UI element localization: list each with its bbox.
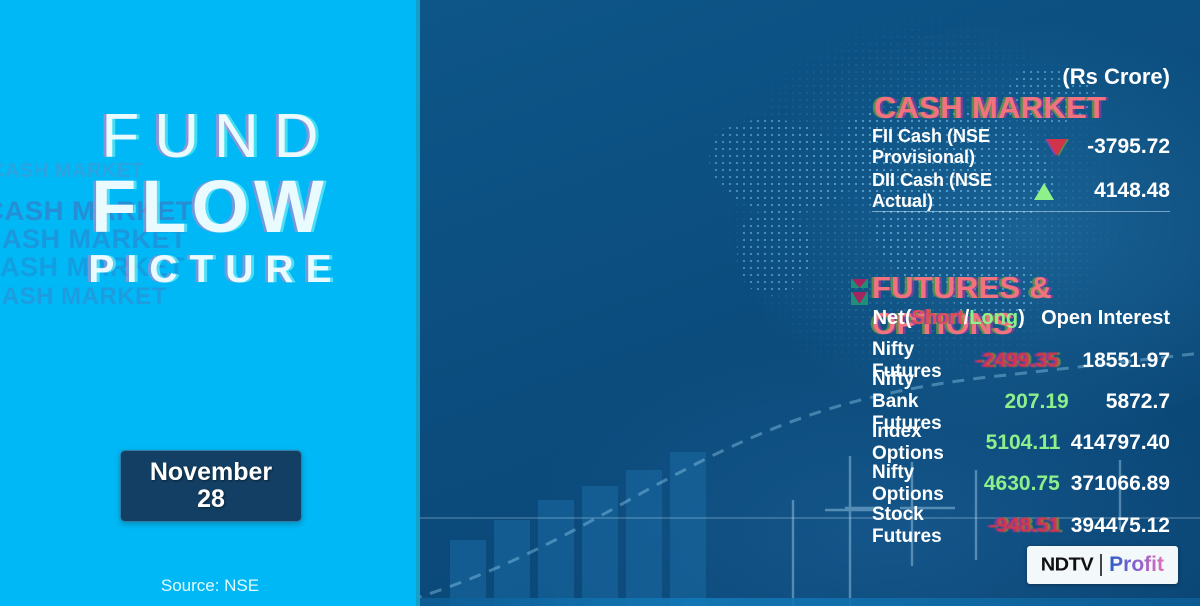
cash-row-label: FII Cash (NSE Provisional) xyxy=(872,126,1040,168)
profit-wordmark: Profit xyxy=(1109,553,1164,577)
row-net-value: 207.19 xyxy=(962,390,1069,414)
column-header-open-interest: Open Interest xyxy=(1025,307,1170,330)
title-line-fund: FUND xyxy=(0,106,420,168)
show-title-logo: FUND FLOW PICTURE xyxy=(0,106,420,289)
triangle-marker-icon xyxy=(850,277,870,309)
table-row: Stock Futures -948.51 394475.12 xyxy=(872,511,1170,541)
ndtv-wordmark: NDTV xyxy=(1041,554,1093,575)
row-open-interest-value: 5872.7 xyxy=(1069,390,1170,414)
row-open-interest-value: 414797.40 xyxy=(1060,431,1170,455)
row-label: Nifty Options xyxy=(872,462,944,506)
futures-options-heading: FUTURES & OPTIONS xyxy=(872,270,1200,342)
cash-row: FII Cash (NSE Provisional) -3795.72 xyxy=(872,133,1170,161)
ndtv-profit-logo: NDTV Profit xyxy=(1027,546,1178,584)
table-row: Index Options 5104.11 414797.40 xyxy=(872,428,1170,458)
units-label: (Rs Crore) xyxy=(1062,64,1170,90)
cash-row-value: 4148.48 xyxy=(1062,179,1170,203)
table-row: Nifty Bank Futures 207.19 5872.7 xyxy=(872,387,1170,417)
section-divider xyxy=(872,211,1170,212)
date-month-label: November xyxy=(150,459,272,486)
cash-row-value: -3795.72 xyxy=(1073,135,1170,159)
left-branding-panel: CASH MARKET CASH MARKET CASH MARKET CASH… xyxy=(0,0,420,606)
date-day-label: 28 xyxy=(197,486,225,513)
row-open-interest-value: 371066.89 xyxy=(1060,472,1170,496)
row-label: Stock Futures xyxy=(872,504,945,548)
cash-row-label: DII Cash (NSE Actual) xyxy=(872,170,1026,212)
cash-market-heading: CASH MARKET xyxy=(874,90,1106,126)
net-short-word: Short xyxy=(912,307,964,329)
table-row: Nifty Options 4630.75 371066.89 xyxy=(872,469,1170,499)
net-suffix: ) xyxy=(1018,307,1025,329)
date-badge: November 28 xyxy=(120,450,302,522)
row-open-interest-value: 394475.12 xyxy=(1060,514,1170,538)
row-net-value: 4630.75 xyxy=(944,472,1060,496)
fund-flow-picture-screen: CASH MARKET CASH MARKET CASH MARKET CASH… xyxy=(0,0,1200,606)
source-label: Source: NSE xyxy=(0,576,420,596)
row-open-interest-value: 18551.97 xyxy=(1059,349,1170,373)
futures-options-column-headers: Net(Short/Long) Open Interest xyxy=(872,307,1170,330)
logo-divider xyxy=(1100,554,1102,576)
cash-row: DII Cash (NSE Actual) 4148.48 xyxy=(872,177,1170,205)
title-line-flow: FLOW xyxy=(0,170,420,244)
row-label: Index Options xyxy=(872,421,945,465)
net-prefix: Net( xyxy=(873,307,912,329)
title-line-picture: PICTURE xyxy=(0,250,420,289)
row-net-value: 5104.11 xyxy=(945,431,1060,455)
net-long-word: Long xyxy=(969,307,1018,329)
row-net-value: -948.51 xyxy=(945,514,1060,538)
column-header-net: Net(Short/Long) xyxy=(872,307,1025,330)
triangle-down-icon xyxy=(1040,139,1073,156)
data-panel: (Rs Crore) CASH MARKET FII Cash (NSE Pro… xyxy=(420,0,1200,606)
triangle-up-icon xyxy=(1026,183,1062,200)
